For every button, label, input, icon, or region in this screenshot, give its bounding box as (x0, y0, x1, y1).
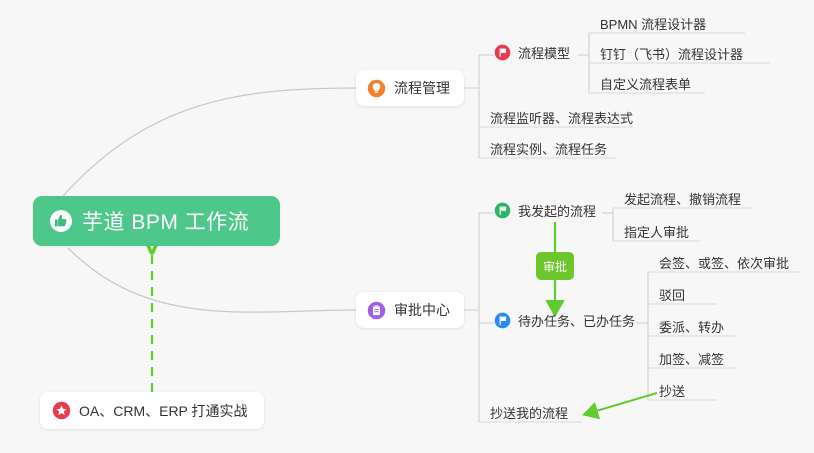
node-label-process-model: 流程模型 (518, 43, 570, 62)
branch-label-approval-center: 审批中心 (394, 300, 450, 320)
root-label: 芋道 BPM 工作流 (82, 206, 249, 236)
node-todo-done-tasks[interactable]: 待办任务、已办任务 (494, 311, 635, 330)
thumbs-up-icon (50, 210, 72, 232)
leaf-node[interactable]: 驳回 (659, 285, 685, 309)
leaf-node[interactable]: 指定人审批 (624, 222, 689, 246)
flag-icon (494, 202, 511, 219)
leaf-node[interactable]: 钉钉（飞书）流程设计器 (600, 44, 743, 68)
node-process-model[interactable]: 流程模型 (494, 43, 570, 62)
lightbulb-icon (367, 79, 386, 98)
leaf-node[interactable]: 自定义流程表单 (600, 74, 691, 98)
edge-root-to-approval-center (68, 248, 356, 312)
leaf-node[interactable]: 流程监听器、流程表达式 (490, 108, 633, 132)
mindmap-canvas: 芋道 BPM 工作流 OA、CRM、ERP 打通实战 流程管理 (0, 0, 814, 453)
clipboard-icon (367, 301, 386, 320)
edge-root-to-process-management (63, 88, 356, 196)
cc-left-arrow-icon (586, 393, 657, 414)
leaf-node[interactable]: 抄送 (659, 381, 685, 405)
root-node[interactable]: 芋道 BPM 工作流 (33, 196, 280, 246)
star-icon (52, 401, 71, 420)
leaf-node[interactable]: 会签、或签、依次审批 (659, 253, 789, 277)
node-label-my-initiated: 我发起的流程 (518, 201, 596, 220)
leaf-node[interactable]: BPMN 流程设计器 (600, 14, 706, 38)
node-label-todo-done-tasks: 待办任务、已办任务 (518, 311, 635, 330)
branch-node-approval-center[interactable]: 审批中心 (356, 292, 464, 328)
aux-node-label: OA、CRM、ERP 打通实战 (79, 401, 248, 421)
tag-approval-label: 审批 (543, 258, 567, 275)
flag-icon (494, 44, 511, 61)
leaf-node[interactable]: 抄送我的流程 (490, 403, 568, 427)
leaf-node[interactable]: 委派、转办 (659, 317, 724, 341)
tag-approval[interactable]: 审批 (536, 252, 574, 280)
node-my-initiated[interactable]: 我发起的流程 (494, 201, 596, 220)
flag-icon (494, 312, 511, 329)
leaf-node[interactable]: 发起流程、撤销流程 (624, 189, 741, 213)
leaf-node[interactable]: 流程实例、流程任务 (490, 139, 607, 163)
branch-node-process-management[interactable]: 流程管理 (356, 70, 464, 106)
aux-node-integration[interactable]: OA、CRM、ERP 打通实战 (40, 392, 264, 429)
leaf-node[interactable]: 加签、减签 (659, 349, 724, 373)
branch-label-process-management: 流程管理 (394, 78, 450, 98)
